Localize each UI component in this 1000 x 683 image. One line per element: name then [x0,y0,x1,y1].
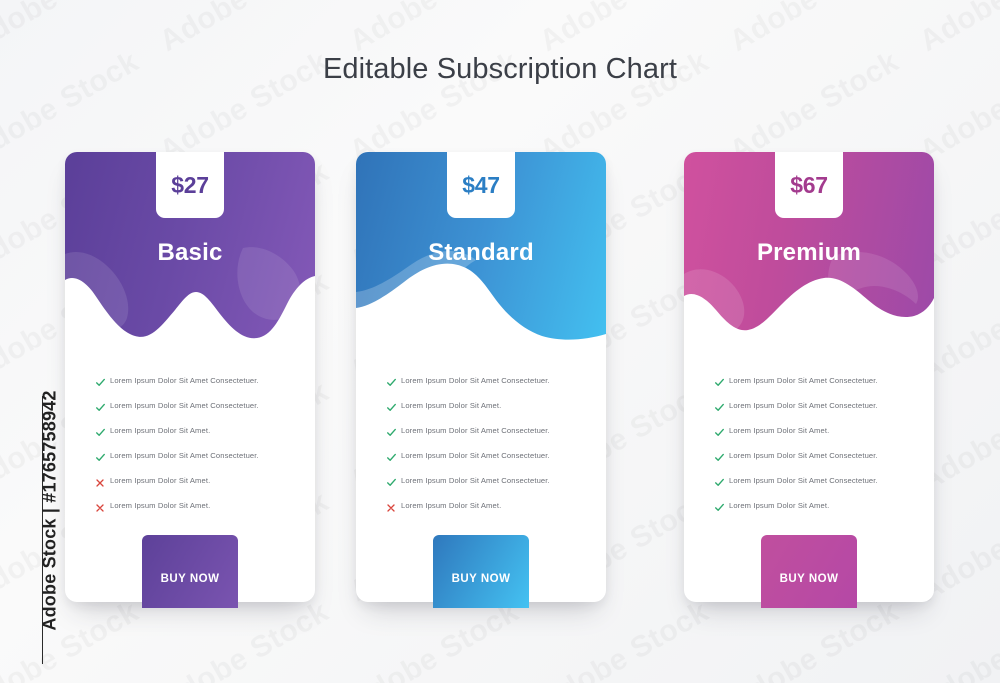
feature-row: Lorem Ipsum Dolor Sit Amet. [356,399,606,424]
buy-now-button[interactable]: BUY NOW [761,535,857,608]
feature-row: Lorem Ipsum Dolor Sit Amet. [65,474,315,499]
feature-label: Lorem Ipsum Dolor Sit Amet. [729,424,829,436]
feature-list: Lorem Ipsum Dolor Sit Amet Consectetuer.… [684,374,934,524]
check-icon [386,477,397,488]
feature-row: Lorem Ipsum Dolor Sit Amet. [684,424,934,449]
feature-label: Lorem Ipsum Dolor Sit Amet Consectetuer. [401,374,550,386]
check-icon [714,377,725,388]
check-icon-wrap [714,400,729,418]
feature-row: Lorem Ipsum Dolor Sit Amet. [65,499,315,524]
watermark-text: Adobe Stock [534,0,715,59]
feature-label: Lorem Ipsum Dolor Sit Amet Consectetuer. [401,424,550,436]
check-icon-wrap [714,500,729,518]
plan-name: Basic [65,239,315,267]
feature-row: Lorem Ipsum Dolor Sit Amet. [356,499,606,524]
feature-row: Lorem Ipsum Dolor Sit Amet Consectetuer. [356,374,606,399]
watermark-text: Adobe Stock [914,0,1000,59]
plan-name: Premium [684,239,934,267]
feature-label: Lorem Ipsum Dolor Sit Amet Consectetuer. [729,474,878,486]
feature-row: Lorem Ipsum Dolor Sit Amet Consectetuer. [356,474,606,499]
watermark-text: Adobe Stock [0,0,145,59]
feature-row: Lorem Ipsum Dolor Sit Amet Consectetuer. [65,374,315,399]
feature-label: Lorem Ipsum Dolor Sit Amet. [729,499,829,511]
check-icon [714,452,725,463]
cross-icon-wrap [386,500,401,518]
check-icon [95,377,106,388]
feature-row: Lorem Ipsum Dolor Sit Amet Consectetuer. [65,449,315,474]
feature-label: Lorem Ipsum Dolor Sit Amet. [110,499,210,511]
check-icon [386,377,397,388]
check-icon-wrap [95,425,110,443]
feature-label: Lorem Ipsum Dolor Sit Amet Consectetuer. [401,449,550,461]
feature-row: Lorem Ipsum Dolor Sit Amet Consectetuer. [684,474,934,499]
check-icon [95,402,106,413]
feature-label: Lorem Ipsum Dolor Sit Amet. [401,399,501,411]
watermark-text: Adobe Stock [154,0,335,59]
check-icon [386,402,397,413]
cross-icon-wrap [95,475,110,493]
feature-row: Lorem Ipsum Dolor Sit Amet. [65,424,315,449]
check-icon [386,427,397,438]
cross-icon [95,478,105,488]
feature-label: Lorem Ipsum Dolor Sit Amet Consectetuer. [729,374,878,386]
check-icon [714,477,725,488]
buy-now-button[interactable]: BUY NOW [142,535,238,608]
feature-row: Lorem Ipsum Dolor Sit Amet. [684,499,934,524]
feature-label: Lorem Ipsum Dolor Sit Amet Consectetuer. [110,449,259,461]
check-icon-wrap [386,400,401,418]
price-badge: $67 [775,152,843,218]
feature-label: Lorem Ipsum Dolor Sit Amet. [110,424,210,436]
pricing-card-deck: $27 Basic Lorem Ipsum Dolor Sit Amet Con… [0,152,1000,622]
pricing-card-basic: $27 Basic Lorem Ipsum Dolor Sit Amet Con… [65,152,315,602]
page-title: Editable Subscription Chart [0,53,1000,86]
feature-row: Lorem Ipsum Dolor Sit Amet Consectetuer. [356,449,606,474]
check-icon [714,427,725,438]
feature-row: Lorem Ipsum Dolor Sit Amet Consectetuer. [684,374,934,399]
feature-label: Lorem Ipsum Dolor Sit Amet. [110,474,210,486]
check-icon [714,402,725,413]
price-value: $47 [462,172,499,199]
price-value: $67 [790,172,827,199]
check-icon-wrap [386,425,401,443]
check-icon-wrap [386,450,401,468]
price-badge: $47 [447,152,515,218]
check-icon-wrap [386,375,401,393]
cross-icon [386,503,396,513]
feature-label: Lorem Ipsum Dolor Sit Amet. [401,499,501,511]
watermark-text: Adobe Stock [724,0,905,59]
feature-row: Lorem Ipsum Dolor Sit Amet Consectetuer. [684,449,934,474]
buy-now-button[interactable]: BUY NOW [433,535,529,608]
feature-label: Lorem Ipsum Dolor Sit Amet Consectetuer. [729,449,878,461]
check-icon [95,452,106,463]
feature-row: Lorem Ipsum Dolor Sit Amet Consectetuer. [356,424,606,449]
cross-icon-wrap [95,500,110,518]
feature-label: Lorem Ipsum Dolor Sit Amet Consectetuer. [729,399,878,411]
check-icon [714,502,725,513]
price-value: $27 [171,172,208,199]
cross-icon [95,503,105,513]
feature-label: Lorem Ipsum Dolor Sit Amet Consectetuer. [401,474,550,486]
feature-label: Lorem Ipsum Dolor Sit Amet Consectetuer. [110,374,259,386]
check-icon-wrap [386,475,401,493]
check-icon [95,427,106,438]
feature-row: Lorem Ipsum Dolor Sit Amet Consectetuer. [684,399,934,424]
feature-list: Lorem Ipsum Dolor Sit Amet Consectetuer.… [356,374,606,524]
feature-row: Lorem Ipsum Dolor Sit Amet Consectetuer. [65,399,315,424]
price-badge: $27 [156,152,224,218]
check-icon-wrap [714,375,729,393]
plan-name: Standard [356,239,606,267]
check-icon [386,452,397,463]
check-icon-wrap [95,375,110,393]
check-icon-wrap [714,425,729,443]
feature-list: Lorem Ipsum Dolor Sit Amet Consectetuer.… [65,374,315,524]
watermark-text: Adobe Stock [344,0,525,59]
check-icon-wrap [714,450,729,468]
pricing-card-premium: $67 Premium Lorem Ipsum Dolor Sit Amet C… [684,152,934,602]
check-icon-wrap [714,475,729,493]
feature-label: Lorem Ipsum Dolor Sit Amet Consectetuer. [110,399,259,411]
pricing-card-standard: $47 Standard Lorem Ipsum Dolor Sit Amet … [356,152,606,602]
check-icon-wrap [95,450,110,468]
check-icon-wrap [95,400,110,418]
